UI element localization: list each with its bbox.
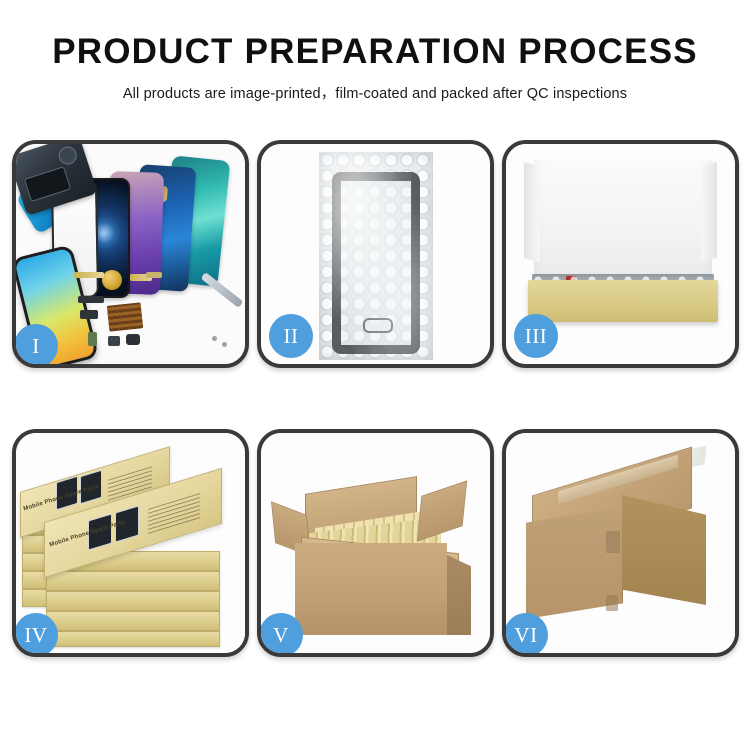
stack-box-r2	[46, 571, 220, 591]
screw-2-icon	[222, 342, 227, 347]
step-panel-2: II	[257, 140, 494, 368]
step-5-image: V	[261, 433, 490, 653]
step-panel-5: V	[257, 429, 494, 657]
carton-right-flap-icon	[417, 480, 467, 541]
box-lid-left-flap-icon	[524, 162, 540, 262]
stack-box-r3	[46, 591, 220, 611]
sealed-carton-side-icon	[622, 495, 706, 605]
step-panel-4: Mobile Phone Spare Parts Mobile Phone Sp…	[12, 429, 249, 657]
speaker-part-icon	[102, 270, 122, 290]
step-panel-1: I	[12, 140, 249, 368]
carton-notch-bottom-icon	[606, 595, 618, 611]
stack-box-r4	[46, 611, 220, 631]
yellow-box-base-icon	[528, 280, 718, 322]
flex-cable-part-icon	[74, 272, 104, 278]
home-button-icon	[363, 318, 393, 333]
small-part-a-icon	[78, 296, 104, 303]
header: PRODUCT PREPARATION PROCESS All products…	[0, 34, 750, 103]
carton-front-face-icon	[295, 543, 447, 635]
page-subtitle: All products are image-printed，film-coat…	[0, 82, 750, 103]
step-3-badge: III	[514, 314, 558, 358]
step-2-image: II	[261, 144, 490, 364]
step-3-image: III	[506, 144, 735, 364]
process-steps-grid: I II	[12, 140, 738, 685]
product-preparation-infographic: PRODUCT PREPARATION PROCESS All products…	[0, 0, 750, 750]
step-panel-6: VI	[502, 429, 739, 657]
small-part-e-icon	[146, 272, 162, 278]
bubble-wrap-sheet-icon	[319, 152, 433, 360]
step-4-badge: IV	[16, 613, 58, 653]
carton-notch-top-icon	[606, 531, 620, 553]
small-part-c-icon	[108, 336, 120, 346]
carton-right-side-icon	[447, 555, 471, 635]
step-6-image: VI	[506, 433, 735, 653]
tweezers-icon	[201, 272, 244, 308]
step-4-image: Mobile Phone Spare Parts Mobile Phone Sp…	[16, 433, 245, 653]
stack-box-r5	[46, 631, 220, 647]
page-title: PRODUCT PREPARATION PROCESS	[0, 34, 750, 71]
small-part-b-icon	[80, 310, 98, 319]
box-lid-white-icon	[534, 160, 712, 290]
battery-part-icon	[88, 332, 97, 346]
step-5-badge: V	[261, 613, 303, 653]
box-lid-right-flap-icon	[701, 162, 717, 262]
step-1-badge: I	[16, 324, 58, 364]
step-panel-3: III	[502, 140, 739, 368]
step-6-badge: VI	[506, 613, 548, 653]
screw-icon	[212, 336, 217, 341]
step-1-image: I	[16, 144, 245, 364]
small-part-d-icon	[126, 334, 140, 345]
chip-grid-part-icon	[107, 302, 144, 331]
step-2-badge: II	[269, 314, 313, 358]
